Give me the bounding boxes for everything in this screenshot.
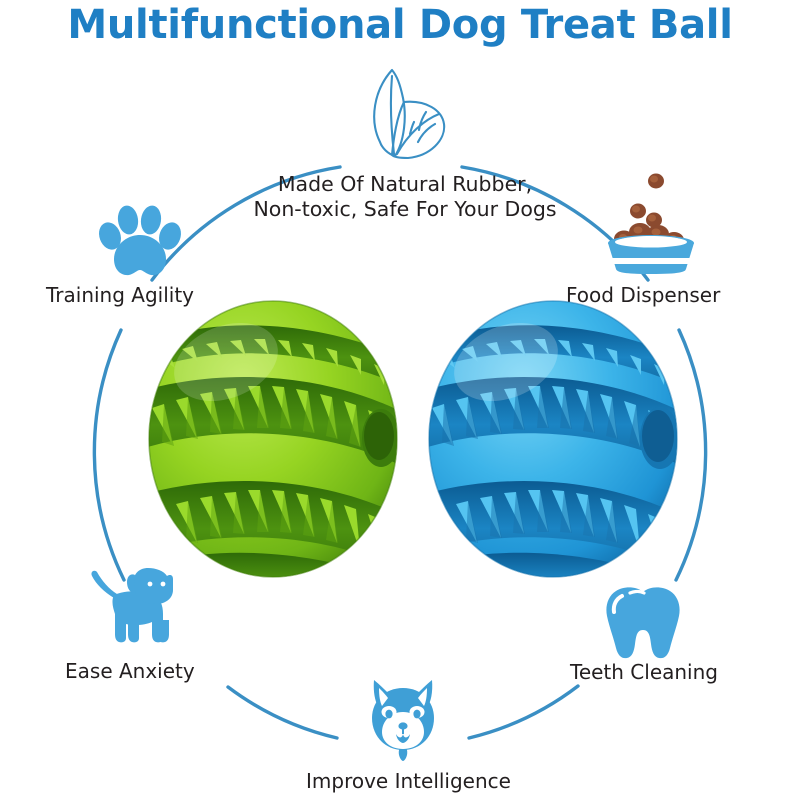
label-teeth-cleaning: Teeth Cleaning <box>570 660 718 684</box>
ring-arc-right <box>676 330 706 580</box>
label-natural-rubber: Made Of Natural Rubber, Non-toxic, Safe … <box>245 172 565 222</box>
blue-treat-ball <box>428 300 678 578</box>
tooth-icon <box>602 586 684 660</box>
ring-arc-left <box>94 330 124 580</box>
ring-arc-bottom-left <box>228 687 337 738</box>
ring-arc-bottom-right <box>469 686 578 738</box>
infographic-canvas: Multifunctional Dog Treat Ball <box>0 0 800 800</box>
leaf-icon <box>352 62 456 162</box>
kibble-falling <box>630 174 664 228</box>
green-treat-ball <box>148 300 398 578</box>
product-images <box>140 300 680 580</box>
paw-print-icon <box>97 203 185 281</box>
dog-food-bowl-icon <box>596 168 706 278</box>
label-natural-rubber-line2: Non-toxic, Safe For Your Dogs <box>245 197 565 222</box>
label-natural-rubber-line1: Made Of Natural Rubber, <box>245 172 565 197</box>
shiba-dog-head-icon <box>359 676 447 762</box>
page-title: Multifunctional Dog Treat Ball <box>0 2 800 48</box>
label-improve-intelligence: Improve Intelligence <box>306 769 511 793</box>
label-ease-anxiety: Ease Anxiety <box>65 659 195 683</box>
